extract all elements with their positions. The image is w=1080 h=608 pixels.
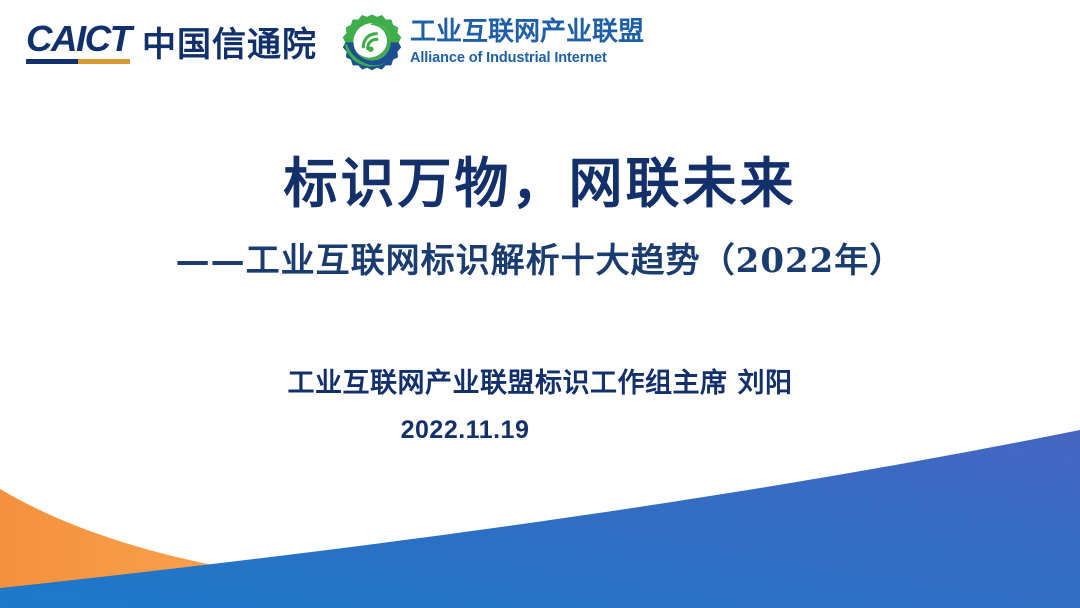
slide-subtitle: ——工业互联网标识解析十大趋势（2022年） — [0, 240, 1080, 283]
caict-underline-rule — [26, 59, 130, 64]
caict-rule-gold-segment — [78, 59, 130, 64]
caict-wordmark-block: CAICT — [26, 22, 130, 64]
decorative-waves — [0, 0, 1080, 608]
slide-content: 标识万物，网联未来 ——工业互联网标识解析十大趋势（2022年） 工业互联网产业… — [0, 0, 1080, 608]
slide-date: 2022.11.19 — [0, 416, 1080, 445]
aii-english-name: Alliance of Industrial Internet — [410, 49, 644, 67]
gear-wifi-icon — [341, 12, 403, 74]
presenter-line: 工业互联网产业联盟标识工作组主席 刘阳 — [0, 368, 1080, 400]
aii-logo: 工业互联网产业联盟 Alliance of Industrial Interne… — [341, 12, 644, 74]
orange-wave-shape — [0, 489, 470, 608]
caict-logo: CAICT 中国信通院 — [26, 22, 317, 64]
caict-rule-navy-segment — [26, 59, 78, 64]
logo-bar: CAICT 中国信通院 — [0, 0, 1080, 86]
presentation-slide: CAICT 中国信通院 — [0, 0, 1080, 608]
aii-chinese-name: 工业互联网产业联盟 — [410, 19, 644, 47]
aii-text-block: 工业互联网产业联盟 Alliance of Industrial Interne… — [410, 19, 644, 67]
blue-wave-shape — [0, 430, 1080, 608]
caict-wordmark: CAICT — [26, 22, 132, 56]
caict-chinese-name: 中国信通院 — [142, 28, 317, 64]
slide-title: 标识万物，网联未来 — [0, 154, 1080, 214]
